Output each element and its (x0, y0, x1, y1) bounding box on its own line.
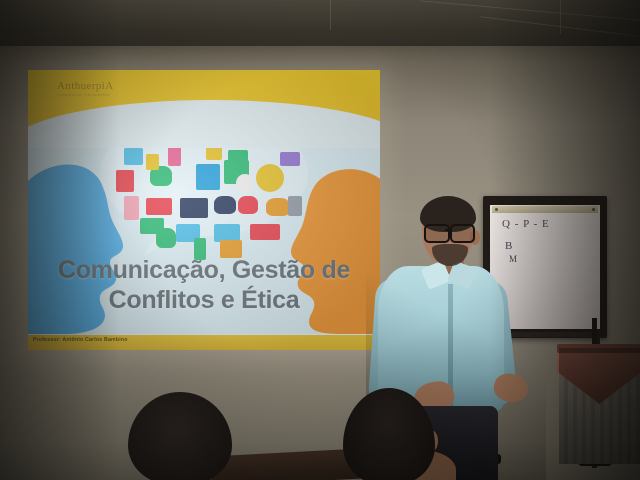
camera-icon (146, 198, 172, 215)
keyboard-icon (250, 224, 280, 240)
lock-icon (146, 154, 159, 170)
gamepad-icon (280, 152, 300, 166)
globe-icon (256, 164, 284, 192)
house-icon (124, 148, 143, 165)
wall-shadow-right (490, 0, 640, 480)
wall-shadow-left (0, 0, 120, 480)
tag-icon (206, 146, 222, 160)
heart-icon (238, 196, 258, 214)
mouse-icon (288, 196, 302, 216)
tshirt-icon (228, 150, 248, 170)
soccer-ball-icon (236, 174, 254, 192)
person-icon (196, 164, 220, 190)
megaphone-icon (266, 198, 290, 216)
laptop-icon (180, 198, 208, 218)
ceiling-tile-line (330, 0, 331, 30)
car-icon (140, 218, 164, 234)
speech-bubble-icon (214, 196, 236, 214)
ice-cream-icon (124, 196, 139, 220)
photo-scene: AnthuerpiA Consultoria Treinamento Comun… (0, 0, 640, 480)
